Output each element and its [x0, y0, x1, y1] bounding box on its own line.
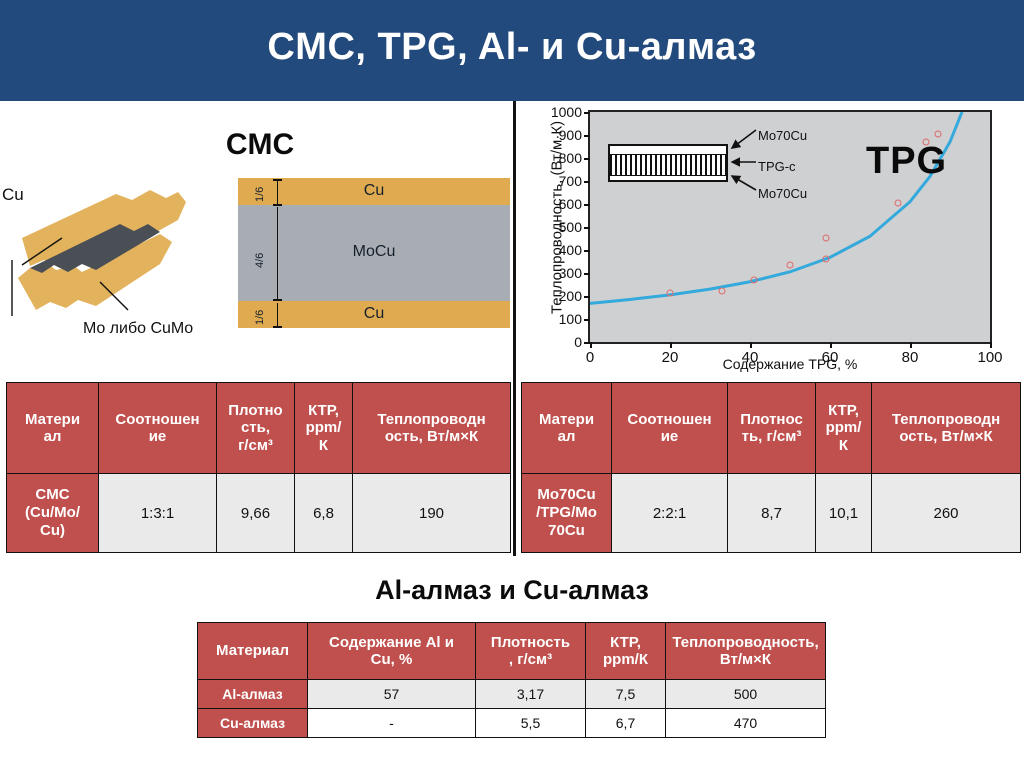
- cell-cte: 6,8: [295, 474, 353, 553]
- table-header-row: Материал Содержание Al и Cu, % Плотность…: [198, 623, 826, 680]
- hdr-line: КТР,: [296, 402, 351, 419]
- dimension-line-middle: [277, 207, 278, 299]
- chart-y-tick-mark: [584, 204, 590, 206]
- hdr-line: Теплопроводн: [354, 411, 509, 428]
- chart-x-tick-mark: [670, 342, 672, 348]
- layer-label-cu-top: Cu: [238, 182, 510, 200]
- table-row: Mo70Cu /TPG/Mo 70Cu 2:2:1 8,7 10,1 260: [522, 474, 1021, 553]
- tpg-properties-table: Матери ал Соотношен ие Плотнос ть, г/см³…: [521, 382, 1021, 553]
- cell-density: 8,7: [728, 474, 816, 553]
- col-header-density: Плотно сть, г/см³: [217, 383, 295, 474]
- chart-y-tick-label: 700: [559, 173, 582, 189]
- cmc-section-title: CMC: [150, 128, 370, 162]
- chart-data-point: [751, 276, 758, 283]
- chart-y-tick-mark: [584, 135, 590, 137]
- cell-density: 5,5: [476, 709, 586, 738]
- chart-y-tick-mark: [584, 181, 590, 183]
- cell-cte: 7,5: [586, 680, 666, 709]
- hdr-line: Содержание Al и: [309, 634, 474, 651]
- col-header-conductivity: Теплопроводность, Вт/м×К: [666, 623, 826, 680]
- chart-y-tick-label: 800: [559, 150, 582, 166]
- rowhdr-line: /TPG/Mo: [523, 504, 610, 522]
- col-header-cte: КТР, ppm/ К: [295, 383, 353, 474]
- hdr-line: КТР,: [587, 634, 664, 651]
- chart-y-tick-mark: [584, 112, 590, 114]
- iso-label-cu: Cu: [2, 185, 24, 205]
- hdr-line: Матери: [523, 411, 610, 428]
- chart-y-tick-label: 300: [559, 265, 582, 281]
- hdr-line: ppm/: [296, 419, 351, 436]
- dimension-cap: [273, 179, 282, 181]
- hdr-line: ppm/: [817, 419, 870, 436]
- table-row: Cu-алмаз - 5,5 6,7 470: [198, 709, 826, 738]
- hdr-line: ие: [613, 428, 726, 445]
- chart-y-tick-label: 400: [559, 242, 582, 258]
- table-header-row: Матери ал Соотношен ие Плотно сть, г/см³…: [7, 383, 511, 474]
- chart-data-point: [667, 290, 674, 297]
- hdr-line: КТР,: [817, 402, 870, 419]
- chart-x-tick-mark: [830, 342, 832, 348]
- cell-ratio: 1:3:1: [99, 474, 217, 553]
- chart-data-point: [719, 287, 726, 294]
- chart-data-point: [935, 131, 942, 138]
- annotation-mo70cu-top: Mo70Cu: [758, 128, 807, 143]
- hdr-line: Соотношен: [613, 411, 726, 428]
- chart-y-tick-mark: [584, 319, 590, 321]
- layer-label-cu-bottom: Cu: [238, 305, 510, 323]
- fraction-label-middle: 4/6: [254, 253, 266, 268]
- hdr-line: Cu, %: [309, 651, 474, 668]
- chart-x-tick-mark: [990, 342, 992, 348]
- chart-y-tick-label: 100: [559, 311, 582, 327]
- fraction-label-bottom: 1/6: [254, 310, 266, 325]
- chart-x-axis-label: Содержание TPG, %: [588, 356, 992, 372]
- rowhdr-line: CMC: [8, 486, 97, 504]
- page-title: CMC, TPG, Al- и Cu-алмаз: [0, 26, 1024, 69]
- row-header-material: Al-алмаз: [198, 680, 308, 709]
- col-header-material: Материал: [198, 623, 308, 680]
- chart-y-tick-mark: [584, 158, 590, 160]
- cell-density: 3,17: [476, 680, 586, 709]
- hdr-line: К: [296, 437, 351, 454]
- hdr-line: сть,: [218, 419, 293, 436]
- hdr-line: ие: [100, 428, 215, 445]
- rowhdr-line: 70Cu: [523, 522, 610, 540]
- row-header-material: Mo70Cu /TPG/Mo 70Cu: [522, 474, 612, 553]
- chart-x-tick-mark: [750, 342, 752, 348]
- hdr-line: г/см³: [218, 437, 293, 454]
- col-header-content: Содержание Al и Cu, %: [308, 623, 476, 680]
- hdr-line: ость, Вт/м×К: [354, 428, 509, 445]
- hdr-line: ость, Вт/м×К: [873, 428, 1019, 445]
- rowhdr-line: Cu): [8, 522, 97, 540]
- bottom-section-title: Al-алмаз и Cu-алмаз: [0, 575, 1024, 606]
- col-header-ratio: Соотношен ие: [99, 383, 217, 474]
- col-header-density: Плотнос ть, г/см³: [728, 383, 816, 474]
- slide-title-bar: CMC, TPG, Al- и Cu-алмаз: [0, 0, 1024, 101]
- dimension-line-top: [277, 180, 278, 205]
- chart-data-point: [923, 138, 930, 145]
- cell-content: 57: [308, 680, 476, 709]
- chart-y-tick-label: 900: [559, 127, 582, 143]
- layer-label-mocu: MoCu: [238, 243, 510, 261]
- hdr-line: Теплопроводн: [873, 411, 1019, 428]
- cell-conductivity: 260: [872, 474, 1021, 553]
- chart-title-tpg: TPG: [866, 140, 947, 183]
- col-header-material: Матери ал: [522, 383, 612, 474]
- cell-density: 9,66: [217, 474, 295, 553]
- chart-x-tick-mark: [910, 342, 912, 348]
- cmc-properties-table: Матери ал Соотношен ие Плотно сть, г/см³…: [6, 382, 511, 553]
- hdr-line: Плотно: [218, 402, 293, 419]
- cmc-cross-section-diagram: Cu MoCu Cu 1/6 4/6 1/6: [238, 178, 510, 328]
- cell-conductivity: 500: [666, 680, 826, 709]
- cell-ratio: 2:2:1: [612, 474, 728, 553]
- table-row: CMC (Cu/Mo/ Cu) 1:3:1 9,66 6,8 190: [7, 474, 511, 553]
- chart-y-tick-mark: [584, 227, 590, 229]
- fraction-label-top: 1/6: [254, 187, 266, 202]
- chart-data-point: [823, 256, 830, 263]
- col-header-conductivity: Теплопроводн ость, Вт/м×К: [353, 383, 511, 474]
- hdr-line: Теплопроводность,: [667, 634, 824, 651]
- hdr-line: Соотношен: [100, 411, 215, 428]
- chart-y-tick-mark: [584, 250, 590, 252]
- chart-y-tick-label: 0: [574, 334, 582, 350]
- dimension-line-bottom: [277, 303, 278, 328]
- chart-y-tick-label: 1000: [551, 104, 582, 120]
- panel-divider: [513, 101, 516, 556]
- cell-content: -: [308, 709, 476, 738]
- hdr-line: Материал: [199, 642, 306, 659]
- row-header-material: CMC (Cu/Mo/ Cu): [7, 474, 99, 553]
- cell-cte: 6,7: [586, 709, 666, 738]
- annotation-mo70cu-bottom: Mo70Cu: [758, 186, 807, 201]
- hdr-line: ал: [523, 428, 610, 445]
- chart-data-point: [895, 199, 902, 206]
- table-row: Al-алмаз 57 3,17 7,5 500: [198, 680, 826, 709]
- chart-data-point: [787, 261, 794, 268]
- col-header-density: Плотность , г/см³: [476, 623, 586, 680]
- cell-conductivity: 190: [353, 474, 511, 553]
- rowhdr-line: Mo70Cu: [523, 486, 610, 504]
- chart-plot-area: Mo70Cu TPG-c Mo70Cu TPG 0100200300400500…: [588, 110, 992, 344]
- chart-y-tick-label: 600: [559, 196, 582, 212]
- dimension-cap: [273, 299, 282, 301]
- chart-x-tick-mark: [590, 342, 592, 348]
- chart-data-point: [823, 235, 830, 242]
- iso-label-mo: Mo либо CuMo: [83, 320, 193, 338]
- cell-conductivity: 470: [666, 709, 826, 738]
- hdr-line: ть, г/см³: [729, 428, 814, 445]
- cell-cte: 10,1: [816, 474, 872, 553]
- col-header-conductivity: Теплопроводн ость, Вт/м×К: [872, 383, 1021, 474]
- row-header-material: Cu-алмаз: [198, 709, 308, 738]
- hdr-line: Плотнос: [729, 411, 814, 428]
- dimension-cap: [273, 326, 282, 328]
- hdr-line: , г/см³: [477, 651, 584, 668]
- chart-y-tick-label: 500: [559, 219, 582, 235]
- col-header-cte: КТР, ppm/ К: [816, 383, 872, 474]
- chart-y-tick-mark: [584, 273, 590, 275]
- hdr-line: К: [817, 437, 870, 454]
- col-header-material: Матери ал: [7, 383, 99, 474]
- col-header-ratio: Соотношен ие: [612, 383, 728, 474]
- col-header-cte: КТР, ppm/К: [586, 623, 666, 680]
- rowhdr-line: (Cu/Mo/: [8, 504, 97, 522]
- table-header-row: Матери ал Соотношен ие Плотнос ть, г/см³…: [522, 383, 1021, 474]
- diamond-composites-table: Материал Содержание Al и Cu, % Плотность…: [197, 622, 826, 738]
- tpg-chart-panel: Теплопроводность, (Вт/м·К) Mo70Cu TPG-c …: [517, 101, 1024, 371]
- inset-annotation-arrows: [610, 124, 780, 219]
- hdr-line: Плотность: [477, 634, 584, 651]
- annotation-tpg-c: TPG-c: [758, 159, 796, 174]
- dimension-cap: [273, 204, 282, 206]
- chart-y-tick-mark: [584, 296, 590, 298]
- hdr-line: ал: [8, 428, 97, 445]
- hdr-line: ppm/К: [587, 651, 664, 668]
- hdr-line: Вт/м×К: [667, 651, 824, 668]
- hdr-line: Матери: [8, 411, 97, 428]
- chart-y-tick-label: 200: [559, 288, 582, 304]
